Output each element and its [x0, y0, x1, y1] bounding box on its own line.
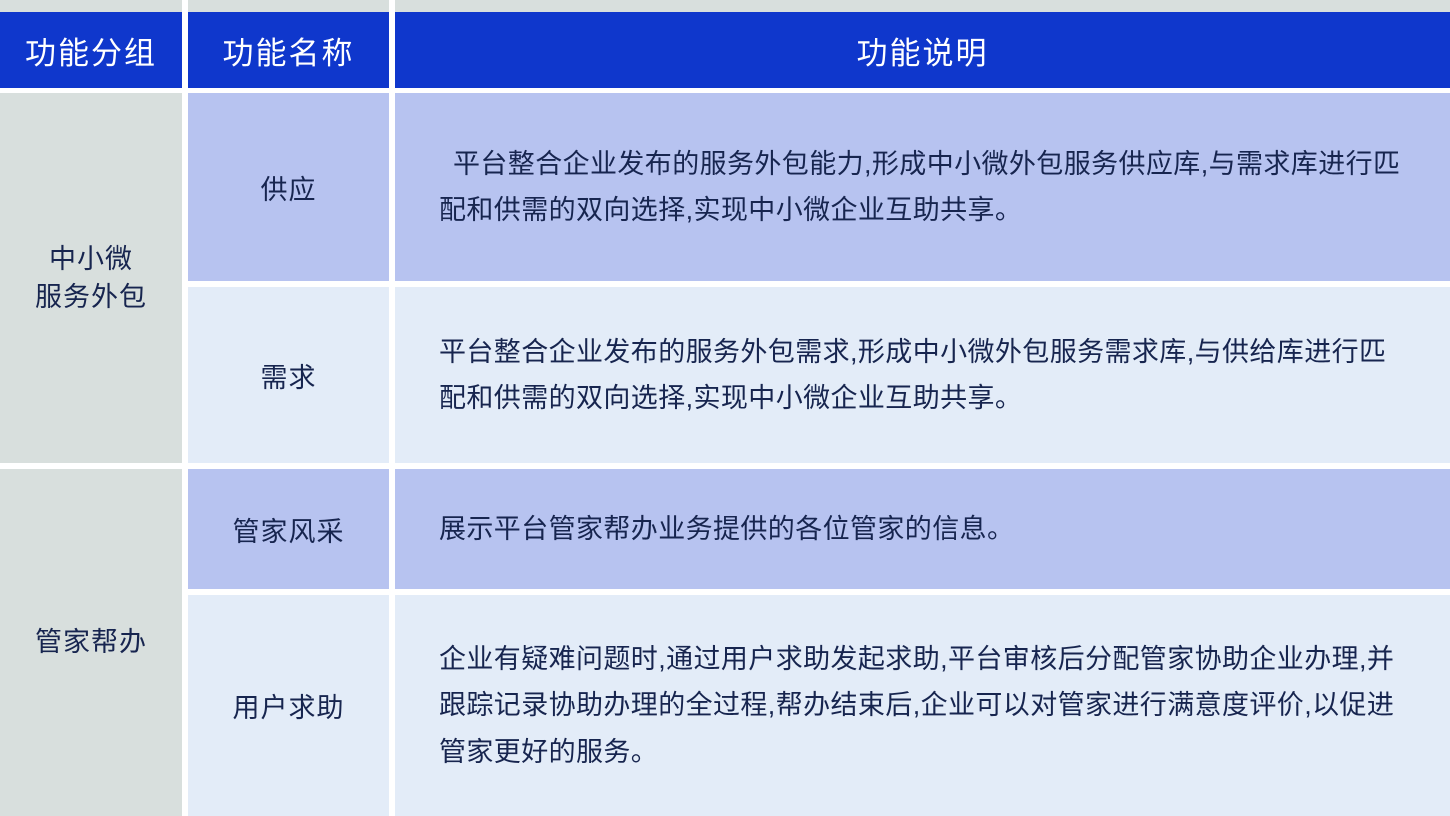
- top-band-gap-2: [389, 0, 395, 12]
- group-cell-1: 中小微 服务外包: [0, 93, 182, 463]
- feature-desc-text: 平台整合企业发布的服务外包需求,形成中小微外包服务需求库,与供给库进行匹配和供需…: [439, 329, 1406, 422]
- group-cell-2: 管家帮办: [0, 469, 182, 816]
- feature-desc-text: 企业有疑难问题时,通过用户求助发起求助,平台审核后分配管家协助企业办理,并跟踪记…: [439, 636, 1406, 775]
- feature-desc-cell-demand: 平台整合企业发布的服务外包需求,形成中小微外包服务需求库,与供给库进行匹配和供需…: [395, 287, 1450, 463]
- feature-name-cell-user-help: 用户求助: [188, 595, 389, 816]
- header-cell-group: 功能分组: [0, 12, 182, 88]
- feature-name-cell-demand: 需求: [188, 287, 389, 463]
- feature-name-label: 需求: [261, 356, 317, 395]
- feature-name-label: 供应: [261, 168, 317, 207]
- group-label-1-line1: 中小微: [35, 240, 147, 278]
- header-label-group: 功能分组: [25, 28, 157, 73]
- top-band-gap-1: [182, 0, 188, 12]
- group-label-1-line2: 服务外包: [35, 278, 147, 316]
- header-cell-name: 功能名称: [188, 12, 389, 88]
- header-label-name: 功能名称: [223, 28, 355, 73]
- feature-desc-text: 平台整合企业发布的服务外包能力,形成中小微外包服务供应库,与需求库进行匹配和供需…: [439, 141, 1406, 234]
- feature-desc-text: 展示平台管家帮办业务提供的各位管家的信息。: [439, 506, 1406, 552]
- feature-name-cell-supply: 供应: [188, 93, 389, 281]
- feature-table-page: 功能分组 功能名称 功能说明 中小微 服务外包 供应 平台整合企业发布的服务外包…: [0, 0, 1450, 816]
- header-label-desc: 功能说明: [857, 28, 989, 73]
- header-cell-desc: 功能说明: [395, 12, 1450, 88]
- feature-desc-cell-user-help: 企业有疑难问题时,通过用户求助发起求助,平台审核后分配管家协助企业办理,并跟踪记…: [395, 595, 1450, 816]
- feature-desc-cell-supply: 平台整合企业发布的服务外包能力,形成中小微外包服务供应库,与需求库进行匹配和供需…: [395, 93, 1450, 281]
- top-background-band: [0, 0, 1450, 12]
- feature-name-label: 管家风采: [233, 510, 345, 549]
- feature-desc-cell-steward-profile: 展示平台管家帮办业务提供的各位管家的信息。: [395, 469, 1450, 589]
- group-label-2-line1: 管家帮办: [35, 623, 147, 661]
- feature-name-cell-steward-profile: 管家风采: [188, 469, 389, 589]
- feature-name-label: 用户求助: [233, 686, 345, 725]
